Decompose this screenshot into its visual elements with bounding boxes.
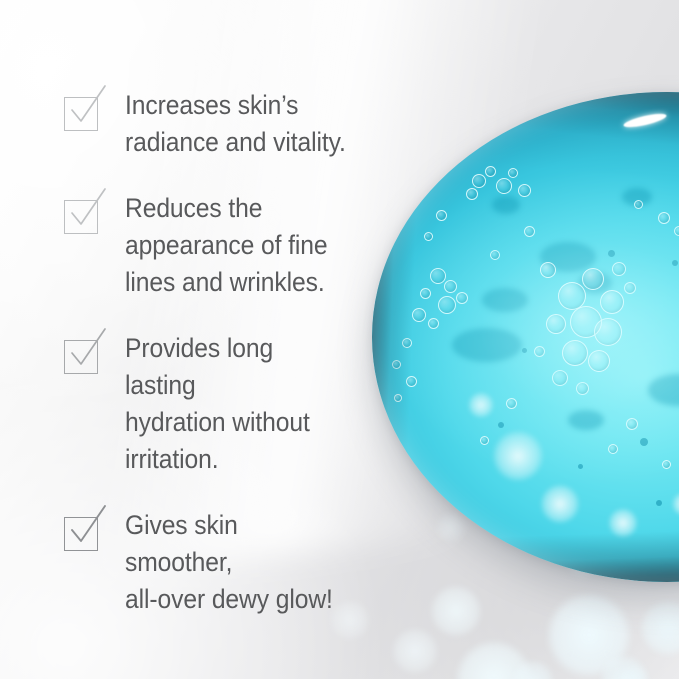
list-item: Increases skin’s radiance and vitality. [64, 88, 364, 161]
checkbox-checked[interactable] [64, 340, 98, 374]
checkmark-icon [68, 333, 108, 375]
blue-gel-droplet [372, 92, 679, 582]
benefit-text: Reduces the appearance of fine lines and… [125, 190, 327, 301]
promo-canvas: Increases skin’s radiance and vitality. … [0, 0, 679, 679]
list-item: Provides long lasting hydration without … [64, 331, 364, 478]
droplet-edge-light [372, 92, 679, 582]
checkmark-icon [68, 193, 108, 235]
checkmark-icon [68, 510, 108, 552]
benefit-text: Gives skin smoother, all-over dewy glow! [125, 507, 347, 618]
checkbox-checked[interactable] [64, 97, 98, 131]
benefit-text: Provides long lasting hydration without … [125, 330, 347, 478]
benefit-text: Increases skin’s radiance and vitality. [125, 87, 346, 161]
list-item: Reduces the appearance of fine lines and… [64, 191, 364, 301]
checkbox-checked[interactable] [64, 200, 98, 234]
benefits-list: Increases skin’s radiance and vitality. … [64, 88, 364, 618]
checkbox-checked[interactable] [64, 517, 98, 551]
list-item: Gives skin smoother, all-over dewy glow! [64, 508, 364, 618]
checkmark-icon [68, 90, 108, 132]
